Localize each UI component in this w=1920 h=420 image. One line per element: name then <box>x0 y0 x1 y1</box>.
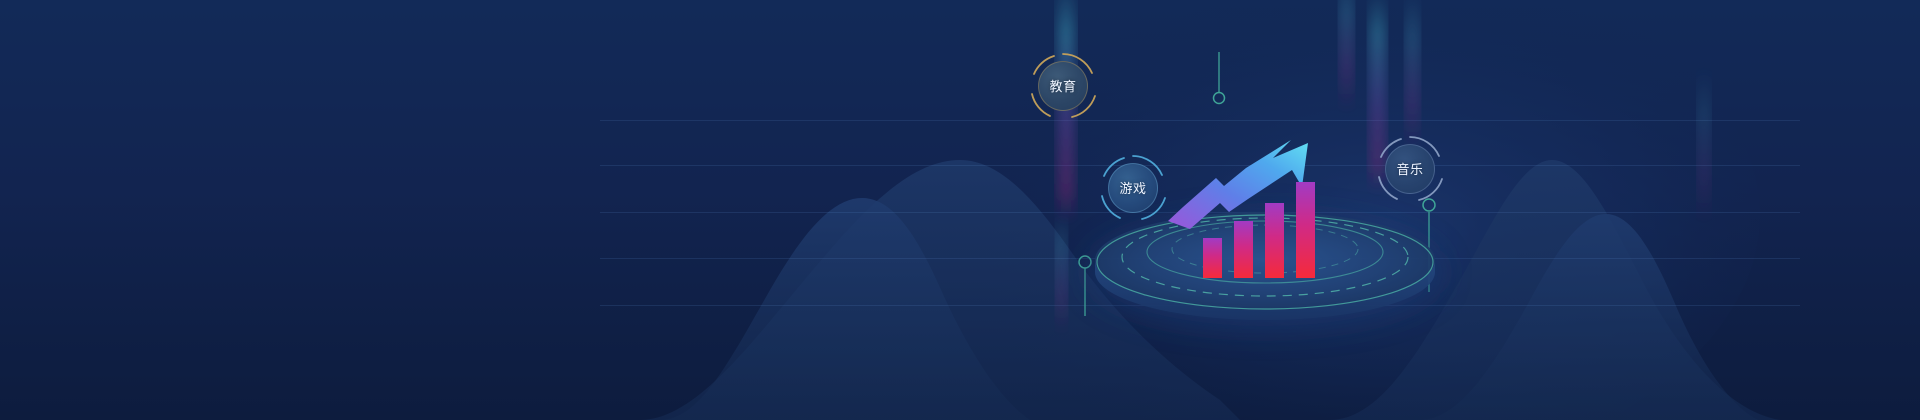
banner-root: 教育 游戏 音乐 <box>0 0 1920 420</box>
light-streak <box>1408 0 1417 150</box>
bar <box>1234 221 1253 278</box>
light-streak <box>1342 0 1351 110</box>
light-streak <box>1700 70 1708 220</box>
badge-disc: 游戏 <box>1108 163 1158 213</box>
bar <box>1265 203 1284 278</box>
category-badge-education[interactable]: 教育 <box>1028 51 1098 121</box>
category-badge-game[interactable]: 游戏 <box>1098 153 1168 223</box>
category-badge-music[interactable]: 音乐 <box>1375 134 1445 204</box>
bar <box>1203 238 1222 278</box>
badge-disc: 教育 <box>1038 61 1088 111</box>
badge-label: 游戏 <box>1119 182 1146 195</box>
scene-illustration <box>0 0 1920 420</box>
badge-label: 教育 <box>1049 80 1076 93</box>
bar <box>1296 182 1315 278</box>
badge-label: 音乐 <box>1396 163 1423 176</box>
light-streak <box>1058 212 1065 332</box>
badge-disc: 音乐 <box>1385 144 1435 194</box>
